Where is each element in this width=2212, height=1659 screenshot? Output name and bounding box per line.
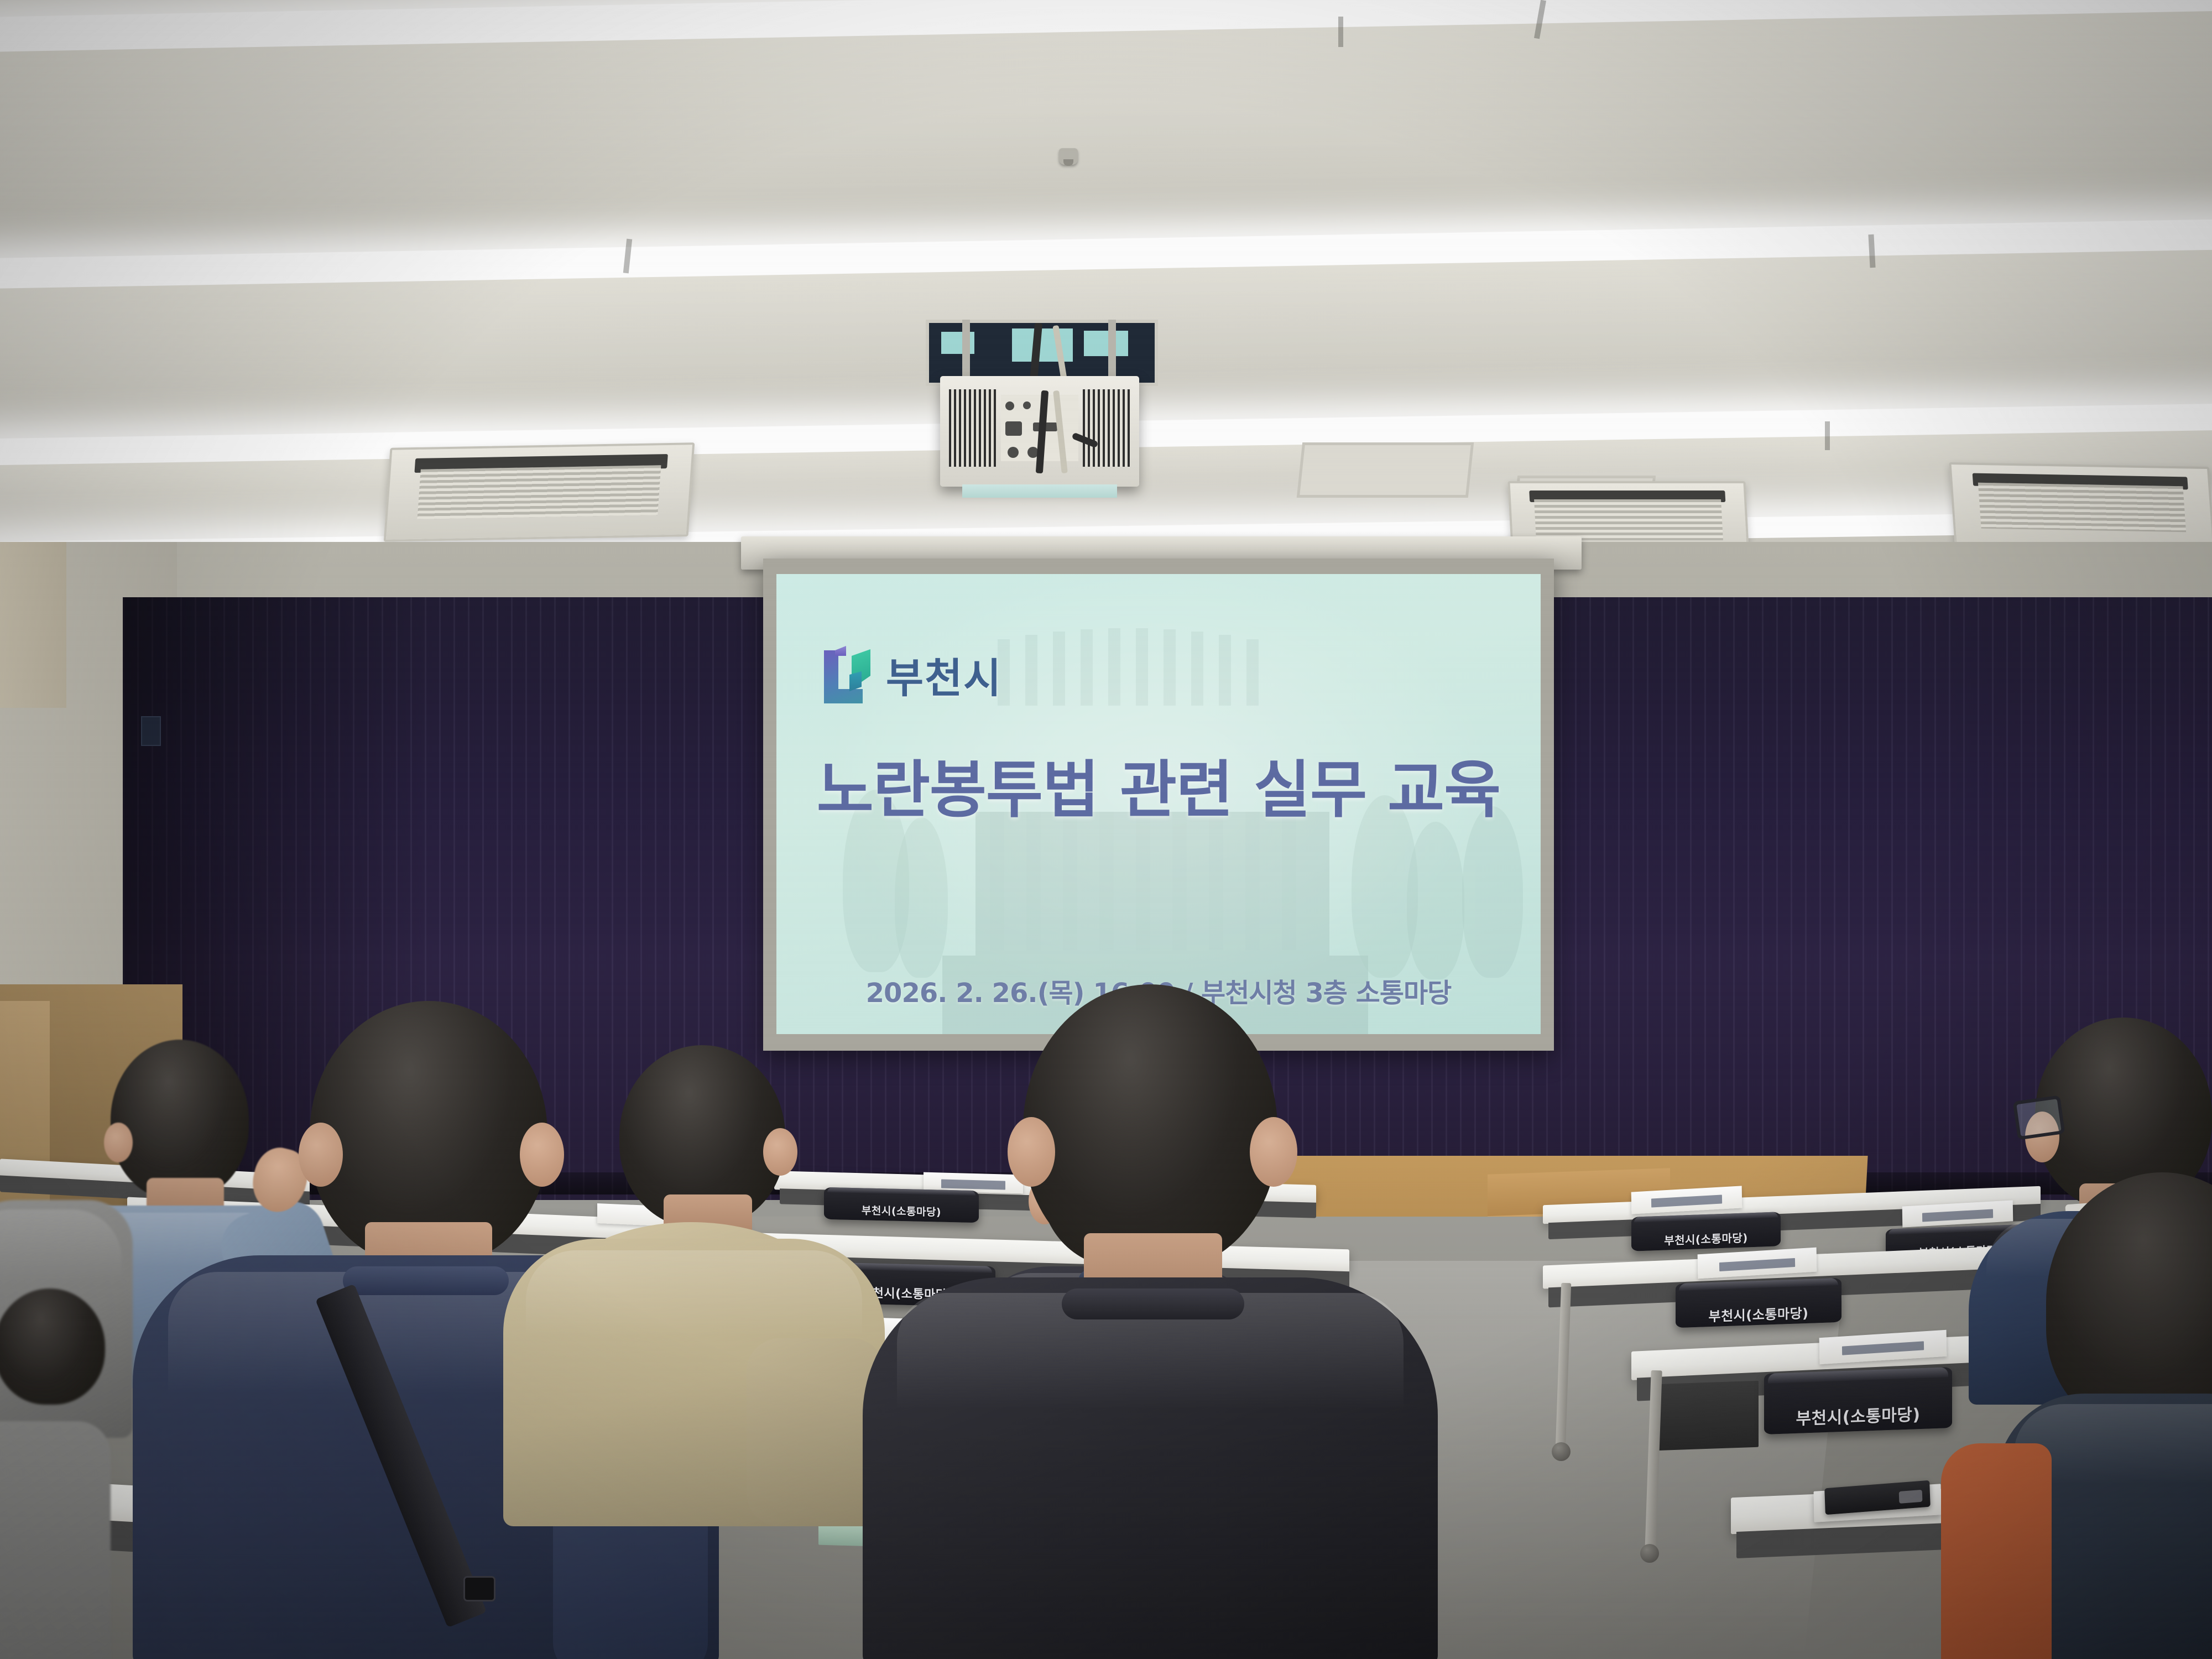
slide-title: 노란봉투법 관련 실무 교육: [776, 740, 1541, 830]
ear: [763, 1128, 797, 1176]
attendee: [1963, 1327, 2212, 1659]
case-clasp: [1899, 1490, 1923, 1504]
head: [111, 1040, 249, 1200]
slide-logo-text: 부천시: [886, 645, 1002, 705]
attendee: [0, 1288, 127, 1454]
chair-label: 부천시(소통마당): [1764, 1400, 1952, 1431]
attendee: [487, 1172, 896, 1526]
projector-vent: [949, 389, 997, 467]
chair: 부천시(소통마당): [1631, 1212, 1781, 1251]
projection-screen: 부천시 노란봉투법 관련 실무 교육 2026. 2. 26.(목) 16:00…: [776, 574, 1541, 1034]
chair: 부천시(소통마당): [1676, 1278, 1841, 1328]
projector-bracket: [962, 320, 970, 379]
chair-label: 부천시(소통마당): [1631, 1228, 1781, 1249]
ceiling-rail: [1825, 421, 1830, 450]
desk-caster: [1640, 1544, 1659, 1563]
jacket-collar: [343, 1266, 509, 1295]
ear: [1250, 1117, 1297, 1187]
slide-logo-lockup: 부천시: [824, 641, 1056, 708]
ceiling: [0, 0, 2212, 553]
ear: [1008, 1117, 1055, 1187]
projector-vent: [1083, 389, 1130, 467]
chair: 부천시(소통마당): [1764, 1367, 1952, 1434]
jacket-collar: [1062, 1288, 1244, 1319]
ear: [299, 1123, 343, 1187]
head: [1023, 984, 1277, 1272]
desk-cable-module: [1653, 1381, 1759, 1451]
ac-grille: [418, 465, 661, 519]
sprinkler-head: [1059, 148, 1078, 165]
arm-rust-sleeve: [1941, 1443, 2052, 1659]
ac-vent: [1949, 462, 2212, 552]
torso: [863, 1277, 1438, 1659]
strap-buckle: [463, 1576, 495, 1601]
ceiling-rail: [1338, 17, 1343, 47]
desk-caster: [1552, 1442, 1571, 1461]
ceiling-access-panel: [1297, 442, 1474, 498]
ac-vent: [384, 442, 695, 542]
ac-grille: [1978, 483, 2186, 532]
glasses: [2013, 1095, 2065, 1140]
projector-bracket: [1108, 320, 1116, 379]
torso-lower: [0, 1421, 111, 1659]
chair-label: 부천시(소통마당): [1676, 1301, 1841, 1326]
ac-grille: [1534, 499, 1723, 540]
attendee: [863, 1150, 1438, 1659]
head: [0, 1288, 105, 1405]
ear: [104, 1123, 133, 1162]
lecture-room-photo: 부천시 노란봉투법 관련 실무 교육 2026. 2. 26.(목) 16:00…: [0, 0, 2212, 1659]
wall-outlet-plate: [141, 716, 161, 746]
projector-lens-housing: [962, 484, 1117, 498]
projection-screen-assembly: 부천시 노란봉투법 관련 실무 교육 2026. 2. 26.(목) 16:00…: [763, 559, 1554, 1051]
ceiling-projector: [940, 342, 1139, 491]
bucheon-city-logo-icon: [824, 646, 872, 703]
left-wall-upper-panel: [0, 542, 66, 708]
projector-body: [940, 376, 1139, 487]
